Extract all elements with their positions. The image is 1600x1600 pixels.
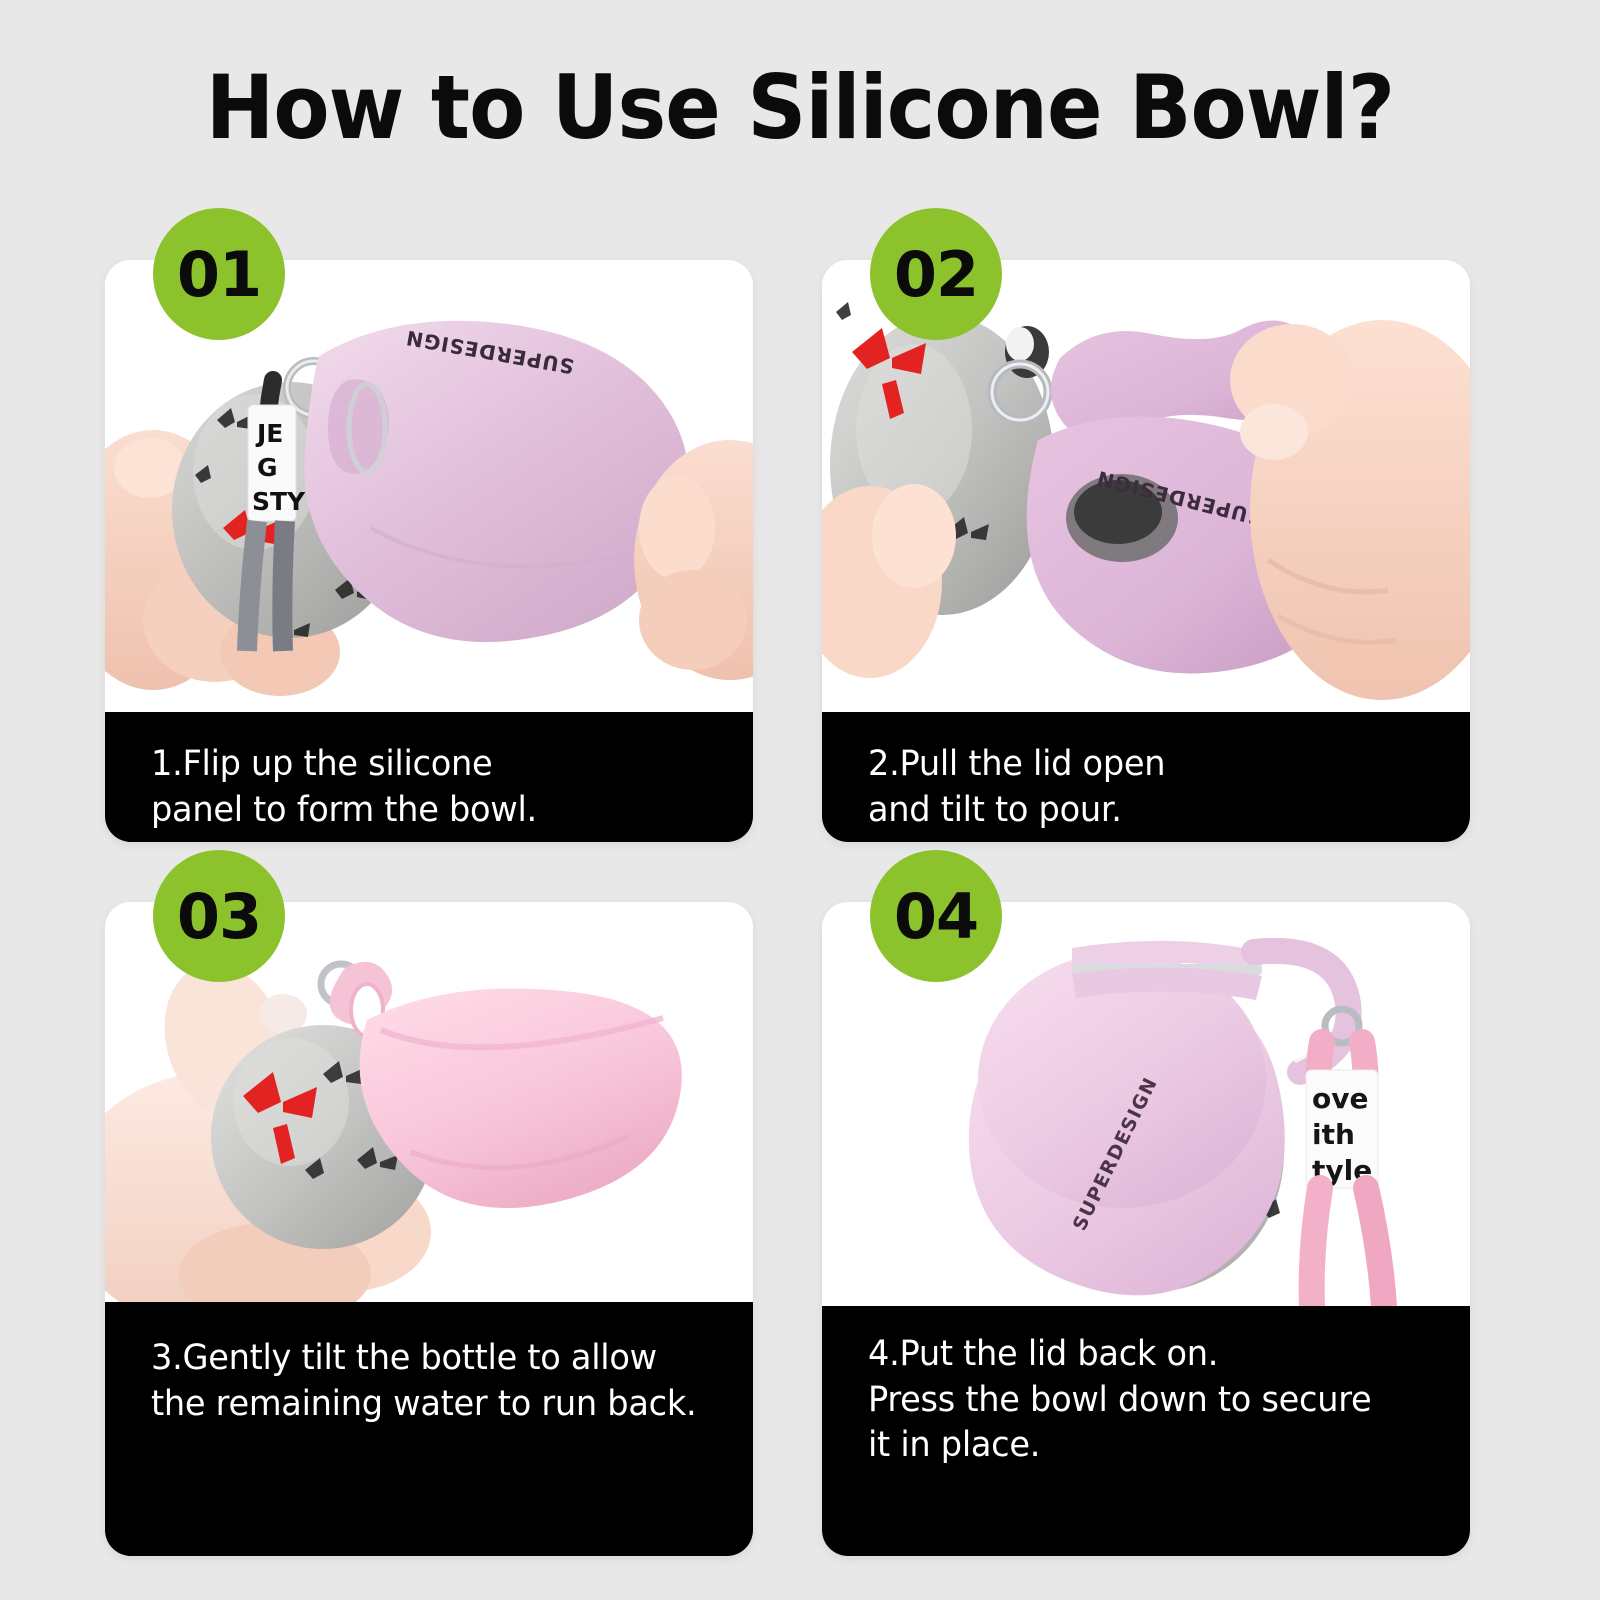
caption-line: 1.Flip up the silicone — [151, 742, 689, 788]
caption-line: the remaining water to run back. — [151, 1382, 689, 1428]
step-badge-3: 03 — [153, 850, 285, 982]
step-caption-3: 3.Gently tilt the bottle to allow the re… — [105, 1302, 753, 1556]
caption-line: 4.Put the lid back on. — [868, 1332, 1406, 1378]
step-caption-4: 4.Put the lid back on. Press the bowl do… — [822, 1306, 1470, 1556]
caption-line: panel to form the bowl. — [151, 788, 689, 834]
step-badge-4: 04 — [870, 850, 1002, 982]
caption-line: 3.Gently tilt the bottle to allow — [151, 1336, 689, 1382]
caption-line: 2.Pull the lid open — [868, 742, 1406, 788]
svg-text:ove: ove — [1312, 1082, 1368, 1115]
step-card-3: 3.Gently tilt the bottle to allow the re… — [105, 902, 753, 1556]
caption-line: Press the bowl down to secure — [868, 1378, 1406, 1424]
page-title: How to Use Silicone Bowl? — [56, 62, 1544, 154]
step-badge-1: 01 — [153, 208, 285, 340]
infographic-page: How to Use Silicone Bowl? — [0, 0, 1600, 1600]
svg-text:ith: ith — [1312, 1118, 1355, 1151]
step-caption-2: 2.Pull the lid open and tilt to pour. — [822, 712, 1470, 842]
step-badge-2: 02 — [870, 208, 1002, 340]
svg-text:STY: STY — [252, 487, 306, 516]
step-card-2: SUPERDESIGN — [822, 260, 1470, 842]
caption-line: and tilt to pour. — [868, 788, 1406, 834]
steps-grid: JE G STY — [105, 260, 1455, 1556]
step-card-1: JE G STY — [105, 260, 753, 842]
step-caption-1: 1.Flip up the silicone panel to form the… — [105, 712, 753, 842]
step-card-4: SUPERDESIGN ove ith ty — [822, 902, 1470, 1556]
svg-text:G: G — [257, 453, 278, 482]
caption-line: it in place. — [868, 1423, 1406, 1469]
svg-text:JE: JE — [255, 419, 283, 448]
